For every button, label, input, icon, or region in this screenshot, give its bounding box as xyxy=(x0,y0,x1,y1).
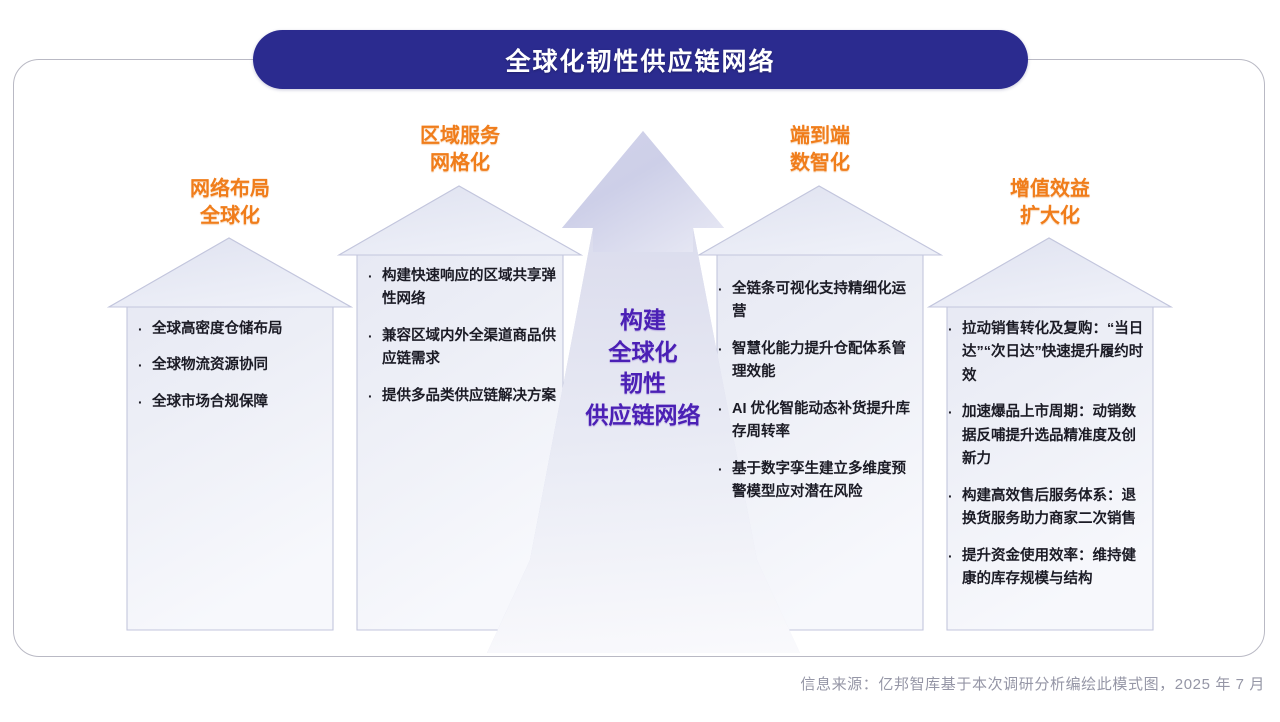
list-item: · 智慧化能力提升仓配体系管理效能 xyxy=(718,338,914,385)
source-note: 信息来源：亿邦智库基于本次调研分析编绘此模式图，2025 年 7 月 xyxy=(0,673,1265,694)
bullet-marker-icon: · xyxy=(948,401,962,471)
pillar-bullets-network-layout: · 全球高密度仓储布局 · 全球物流资源协同 · 全球市场合规保障 xyxy=(138,318,330,427)
pillar-heading-line: 区域服务 xyxy=(350,123,570,150)
bullet-text: 构建快速响应的区域共享弹性网络 xyxy=(382,265,560,312)
pillar-heading-line: 数智化 xyxy=(710,150,930,177)
bullet-marker-icon: · xyxy=(948,485,962,532)
bullet-marker-icon: · xyxy=(368,385,382,408)
pillar-bullets-regional-service: · 构建快速响应的区域共享弹性网络 · 兼容区域内外全渠道商品供应链需求 · 提… xyxy=(368,265,560,421)
list-item: · 全链条可视化支持精细化运营 xyxy=(718,278,914,325)
bullet-text: AI 优化智能动态补货提升库存周转率 xyxy=(732,398,914,445)
pillar-heading-value-added-benefit: 增值效益 扩大化 xyxy=(940,176,1160,230)
list-item: · 全球高密度仓储布局 xyxy=(138,318,330,341)
pillar-heading-line: 网络布局 xyxy=(120,176,340,203)
bullet-marker-icon: · xyxy=(368,325,382,372)
pillar-heading-network-layout: 网络布局 全球化 xyxy=(120,176,340,230)
list-item: · 提升资金使用效率：维持健康的库存规模与结构 xyxy=(948,545,1148,592)
bullet-text: 提升资金使用效率：维持健康的库存规模与结构 xyxy=(962,545,1148,592)
pillar-bullets-value-added-benefit: · 拉动销售转化及复购：“当日达”“次日达”快速提升履约时效 · 加速爆品上市周… xyxy=(948,318,1148,605)
pillar-heading-line: 端到端 xyxy=(710,123,930,150)
pillar-heading-line: 增值效益 xyxy=(940,176,1160,203)
bullet-text: 基于数字孪生建立多维度预警模型应对潜在风险 xyxy=(732,458,914,505)
list-item: · 构建快速响应的区域共享弹性网络 xyxy=(368,265,560,312)
bullet-text: 加速爆品上市周期：动销数据反哺提升选品精准度及创新力 xyxy=(962,401,1148,471)
pillar-heading-line: 扩大化 xyxy=(940,203,1160,230)
center-caption-line: 全球化 xyxy=(562,337,724,369)
center-caption-line: 供应链网络 xyxy=(562,400,724,432)
list-item: · 兼容区域内外全渠道商品供应链需求 xyxy=(368,325,560,372)
bullet-marker-icon: · xyxy=(138,391,152,414)
list-item: · 构建高效售后服务体系：退换货服务助力商家二次销售 xyxy=(948,485,1148,532)
bullet-marker-icon: · xyxy=(718,458,732,505)
list-item: · 全球市场合规保障 xyxy=(138,391,330,414)
bullet-text: 智慧化能力提升仓配体系管理效能 xyxy=(732,338,914,385)
bullet-text: 兼容区域内外全渠道商品供应链需求 xyxy=(382,325,560,372)
page-title: 全球化韧性供应链网络 xyxy=(505,42,775,78)
bullet-marker-icon: · xyxy=(368,265,382,312)
list-item: · 基于数字孪生建立多维度预警模型应对潜在风险 xyxy=(718,458,914,505)
pillar-heading-end-to-end-digital: 端到端 数智化 xyxy=(710,123,930,177)
bullet-marker-icon: · xyxy=(948,318,962,388)
center-arrow-caption: 构建 全球化 韧性 供应链网络 xyxy=(562,305,724,431)
pillar-bullets-end-to-end-digital: · 全链条可视化支持精细化运营 · 智慧化能力提升仓配体系管理效能 · AI 优… xyxy=(718,278,914,518)
bullet-text: 全链条可视化支持精细化运营 xyxy=(732,278,914,325)
bullet-text: 提供多品类供应链解决方案 xyxy=(382,385,560,408)
diagram-canvas: 全球化韧性供应链网络 网络布局 全球化 · 全球高密度仓储布局 · 全球物流资源… xyxy=(0,0,1280,722)
center-caption-line: 构建 xyxy=(562,305,724,337)
diagram-title-pill: 全球化韧性供应链网络 xyxy=(253,30,1028,89)
list-item: · 提供多品类供应链解决方案 xyxy=(368,385,560,408)
list-item: · AI 优化智能动态补货提升库存周转率 xyxy=(718,398,914,445)
center-caption-line: 韧性 xyxy=(562,368,724,400)
bullet-text: 全球高密度仓储布局 xyxy=(152,318,330,341)
pillar-heading-regional-service: 区域服务 网格化 xyxy=(350,123,570,177)
list-item: · 加速爆品上市周期：动销数据反哺提升选品精准度及创新力 xyxy=(948,401,1148,471)
pillar-arrow-network-layout xyxy=(109,238,351,630)
bullet-text: 构建高效售后服务体系：退换货服务助力商家二次销售 xyxy=(962,485,1148,532)
bullet-marker-icon: · xyxy=(948,545,962,592)
bullet-text: 全球市场合规保障 xyxy=(152,391,330,414)
bullet-text: 拉动销售转化及复购：“当日达”“次日达”快速提升履约时效 xyxy=(962,318,1148,388)
list-item: · 全球物流资源协同 xyxy=(138,354,330,377)
bullet-marker-icon: · xyxy=(138,354,152,377)
list-item: · 拉动销售转化及复购：“当日达”“次日达”快速提升履约时效 xyxy=(948,318,1148,388)
bullet-text: 全球物流资源协同 xyxy=(152,354,330,377)
pillar-heading-line: 网格化 xyxy=(350,150,570,177)
pillar-heading-line: 全球化 xyxy=(120,203,340,230)
bullet-marker-icon: · xyxy=(138,318,152,341)
